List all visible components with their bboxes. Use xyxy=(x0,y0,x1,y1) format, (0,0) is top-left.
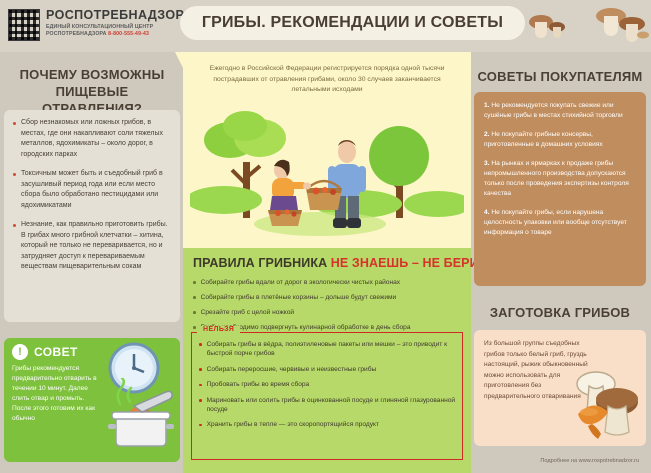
list-item: Токсичным может быть и съедобный гриб в … xyxy=(13,169,171,211)
mushroom-icon xyxy=(593,2,649,50)
list-item: Незнание, как правильно приготовить гриб… xyxy=(13,220,171,273)
item-number: 1. xyxy=(484,102,490,109)
item-text: Не покупайте грибы, если нарушена целост… xyxy=(484,209,627,236)
mushroom-icon xyxy=(527,6,567,46)
bullet-dot-icon xyxy=(199,384,202,387)
list-item: 3. На рынках и ярмарках к продаже грибы … xyxy=(484,159,636,199)
buyers-heading: СОВЕТЫ ПОКУПАТЕЛЯМ xyxy=(474,68,646,85)
list-item: Хранить грибы в тепле — это скоропортящи… xyxy=(199,420,457,429)
rules-title: ПРАВИЛА ГРИБНИКА НЕ ЗНАЕШЬ – НЕ БЕРИ! xyxy=(193,256,483,270)
rules-card: ПРАВИЛА ГРИБНИКА НЕ ЗНАЕШЬ – НЕ БЕРИ! Со… xyxy=(183,248,471,473)
tip-title: СОВЕТ xyxy=(34,345,78,359)
mushrooms-illustration xyxy=(572,362,642,440)
forbidden-text: Собирать переросшие, червивые и неизвест… xyxy=(207,365,377,374)
list-item: Собирайте грибы в плетёные корзины – дол… xyxy=(193,293,465,302)
rule-text: Собирайте грибы в плетёные корзины – дол… xyxy=(201,293,397,302)
logo-subtitle-line1: ЕДИНЫЙ КОНСУЛЬТАЦИОННЫЙ ЦЕНТР xyxy=(46,24,153,30)
rospotrebnadzor-logo: РОСПОТРЕБНАДЗОР ЕДИНЫЙ КОНСУЛЬТАЦИОННЫЙ … xyxy=(8,8,178,46)
list-item: Мариновать или солить грибы в оцинкованн… xyxy=(199,396,457,415)
logo-subtitle: ЕДИНЫЙ КОНСУЛЬТАЦИОННЫЙ ЦЕНТР РОСПОТРЕБН… xyxy=(46,24,184,38)
cause-text: Сбор незнакомых или ложных грибов, в мес… xyxy=(21,118,171,160)
item-number: 2. xyxy=(484,131,490,138)
page-title: ГРИБЫ. РЕКОМЕНДАЦИИ И СОВЕТЫ xyxy=(202,14,503,32)
list-item: Пробовать грибы во время сбора xyxy=(199,380,457,389)
forbidden-label: НЕЛЬЗЯ xyxy=(197,326,240,333)
poster-title-pill: ГРИБЫ. РЕКОМЕНДАЦИИ И СОВЕТЫ xyxy=(180,6,525,40)
bullet-dot-icon xyxy=(193,281,196,284)
bullet-dot-icon xyxy=(13,173,16,176)
bullet-dot-icon xyxy=(193,296,196,299)
mushroom-pickers-illustration xyxy=(190,104,464,240)
item-text: На рынках и ярмарках к продаже грибы неп… xyxy=(484,160,629,197)
bullet-dot-icon xyxy=(199,368,202,371)
forbidden-text: Хранить грибы в тепле — это скоропортящи… xyxy=(207,420,379,429)
logo-title: РОСПОТРЕБНАДЗОР xyxy=(46,8,184,22)
hotline-phone: 8-800-555-49-43 xyxy=(108,31,149,37)
list-item: Собирайте грибы вдали от дорог в экологи… xyxy=(193,278,465,287)
bullet-dot-icon xyxy=(199,424,202,427)
footer-link: Подробнее на www.rospotrebnadzor.ru xyxy=(540,458,639,464)
forbidden-text: Пробовать грибы во время сбора xyxy=(207,380,310,389)
item-number: 4. xyxy=(484,209,490,216)
qr-code-icon xyxy=(8,9,40,41)
logo-subtitle-line2: РОСПОТРЕБНАДЗОРА xyxy=(46,31,107,37)
intro-statistics-text: Ежегодно в Российской Федерации регистри… xyxy=(195,64,459,96)
exclamation-icon: ! xyxy=(12,344,28,360)
bullet-dot-icon xyxy=(13,122,16,125)
bullet-dot-icon xyxy=(199,399,202,402)
buyers-advice-card: 1. Не рекомендуется покупать свежие или … xyxy=(474,92,646,286)
harvest-card: Из большой группы съедобных грибов тольк… xyxy=(474,330,646,446)
rule-text: Срезайте гриб с целой ножкой xyxy=(201,308,294,317)
item-text: Не покупайте грибные консервы, приготовл… xyxy=(484,131,603,148)
bullet-dot-icon xyxy=(193,311,196,314)
causes-card: Сбор незнакомых или ложных грибов, в мес… xyxy=(4,110,180,322)
harvest-heading: ЗАГОТОВКА ГРИБОВ xyxy=(474,304,646,321)
forbidden-text: Мариновать или солить грибы в оцинкованн… xyxy=(207,396,457,415)
list-item: Собирать грибы в вёдра, полиэтиленовые п… xyxy=(199,340,457,359)
item-number: 3. xyxy=(484,160,490,167)
list-item: Срезайте гриб с целой ножкой xyxy=(193,308,465,317)
list-item: 2. Не покупайте грибные консервы, пригот… xyxy=(484,130,636,150)
cause-text: Незнание, как правильно приготовить гриб… xyxy=(21,220,171,273)
bullet-dot-icon xyxy=(193,326,196,329)
list-item: Собирать переросшие, червивые и неизвест… xyxy=(199,365,457,374)
list-item: 1. Не рекомендуется покупать свежие или … xyxy=(484,101,636,121)
forbidden-text: Собирать грибы в вёдра, полиэтиленовые п… xyxy=(207,340,457,359)
tip-card: ! СОВЕТ Грибы рекомендуется предваритель… xyxy=(4,338,180,462)
left-heading-line1: ПОЧЕМУ ВОЗМОЖНЫ xyxy=(20,67,165,82)
list-item: 4. Не покупайте грибы, если нарушена цел… xyxy=(484,208,636,238)
forbidden-list: Собирать грибы в вёдра, полиэтиленовые п… xyxy=(199,340,457,436)
bullet-dot-icon xyxy=(13,224,16,227)
cause-text: Токсичным может быть и съедобный гриб в … xyxy=(21,169,171,211)
item-text: Не рекомендуется покупать свежие или суш… xyxy=(484,102,623,119)
infographic-poster: РОСПОТРЕБНАДЗОР ЕДИНЫЙ КОНСУЛЬТАЦИОННЫЙ … xyxy=(0,0,651,473)
bullet-dot-icon xyxy=(199,343,202,346)
rule-text: Собирайте грибы вдали от дорог в экологи… xyxy=(201,278,400,287)
cooking-pot-icon xyxy=(104,378,180,458)
rules-title-main: ПРАВИЛА ГРИБНИКА xyxy=(193,256,327,270)
rules-title-warning: НЕ ЗНАЕШЬ – НЕ БЕРИ! xyxy=(331,256,483,270)
tip-text: Грибы рекомендуется предварительно отвар… xyxy=(4,362,108,424)
list-item: Сбор незнакомых или ложных грибов, в мес… xyxy=(13,118,171,160)
